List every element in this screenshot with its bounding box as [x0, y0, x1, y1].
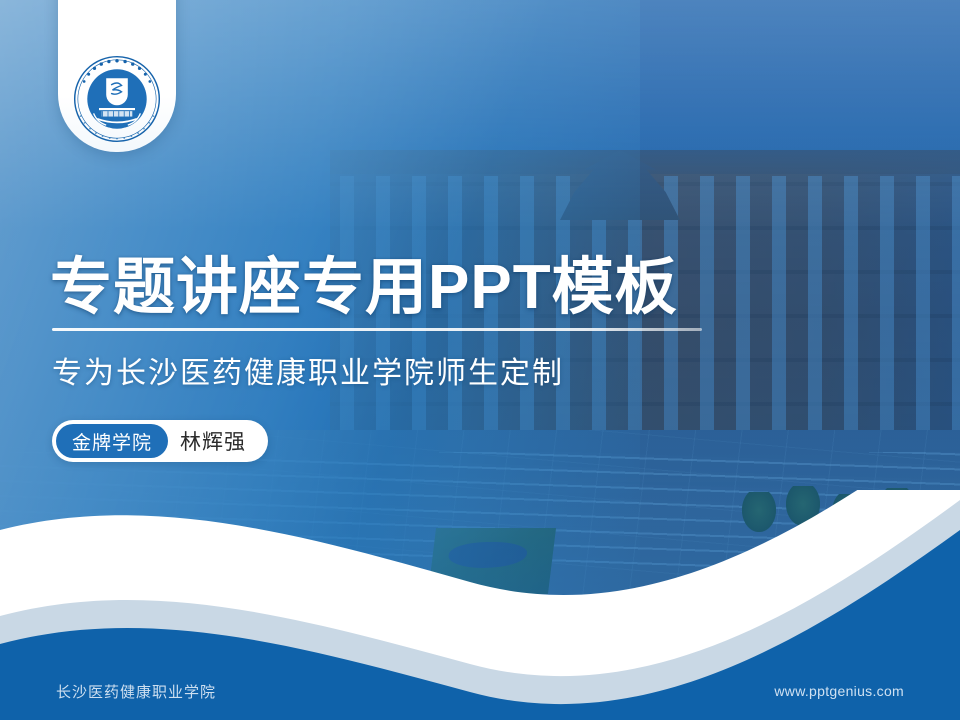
footer-organization: 长沙医药健康职业学院	[56, 681, 216, 702]
slide-subheadline: 专为长沙医药健康职业学院师生定制	[52, 348, 564, 392]
slide-headline: 专题讲座专用PPT模板	[50, 236, 678, 326]
badge-tag-label: 金牌学院	[56, 424, 168, 458]
logo-plaque	[58, 0, 176, 152]
presenter-badge[interactable]: 金牌学院 林辉强	[52, 420, 268, 462]
presentation-slide: 专题讲座专用PPT模板 专为长沙医药健康职业学院师生定制 金牌学院 林辉强 长沙…	[0, 0, 960, 720]
presenter-name: 林辉强	[180, 426, 246, 456]
footer-website[interactable]: www.pptgenius.com	[774, 683, 904, 699]
university-seal-icon	[72, 54, 162, 144]
headline-divider	[52, 328, 702, 331]
